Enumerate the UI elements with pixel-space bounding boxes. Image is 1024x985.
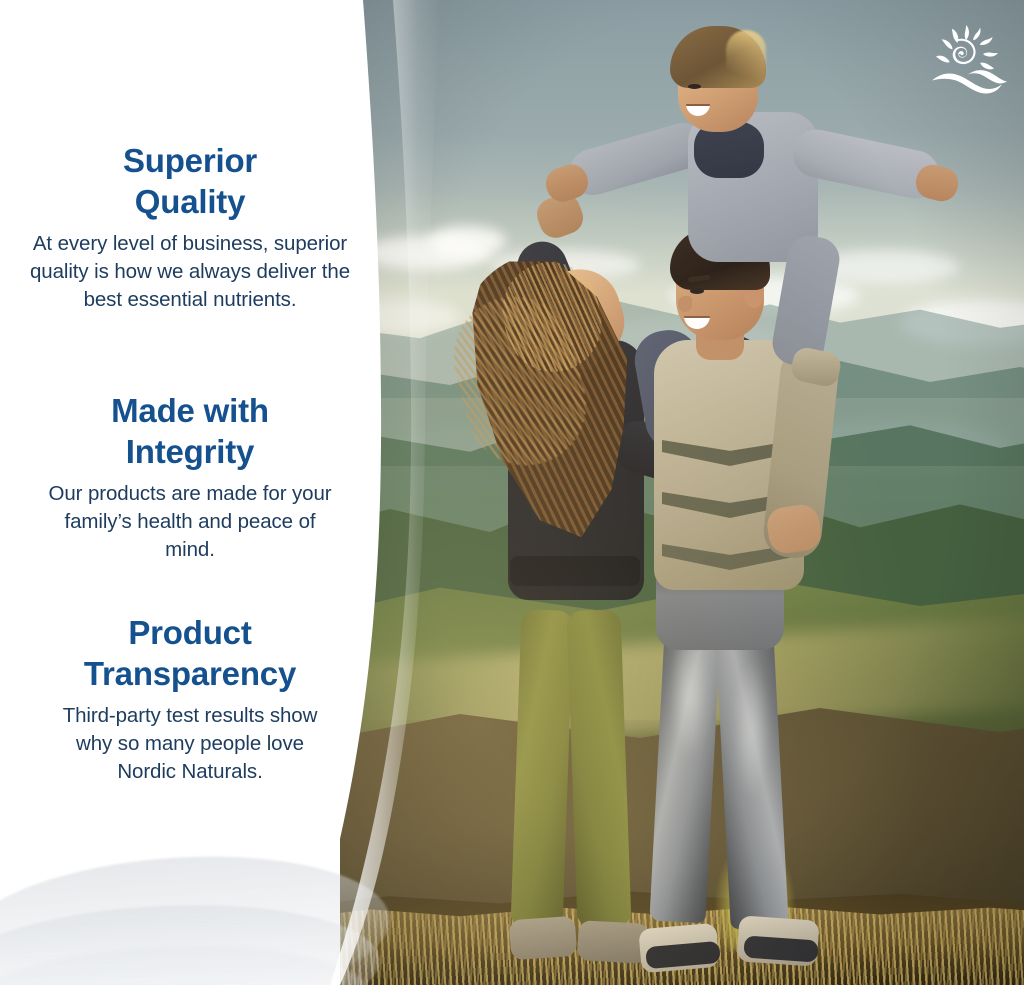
heading-line-1: Superior xyxy=(123,142,257,179)
heading-line-2: Integrity xyxy=(126,433,254,470)
block-body: At every level of business, superior qua… xyxy=(30,230,350,314)
heading-line-1: Product xyxy=(128,614,251,651)
value-block-made-with-integrity: Made with Integrity Our products are mad… xyxy=(20,390,360,564)
value-propositions: Superior Quality At every level of busin… xyxy=(0,0,408,985)
sun-waves-logo-icon xyxy=(932,25,1007,93)
block-body: Our products are made for your family’s … xyxy=(40,480,340,564)
block-body: Third-party test results show why so man… xyxy=(55,702,325,786)
nordic-naturals-logo xyxy=(928,22,1008,94)
heading-line-2: Transparency xyxy=(84,655,296,692)
block-heading: Superior Quality xyxy=(20,140,360,222)
heading-line-2: Quality xyxy=(135,183,245,220)
block-heading: Made with Integrity xyxy=(20,390,360,472)
value-block-superior-quality: Superior Quality At every level of busin… xyxy=(20,140,360,314)
vignette-overlay xyxy=(340,0,1024,985)
brand-graphic: Superior Quality At every level of busin… xyxy=(0,0,1024,985)
block-heading: Product Transparency xyxy=(20,612,360,694)
heading-line-1: Made with xyxy=(111,392,269,429)
family-photo xyxy=(340,0,1024,985)
value-block-product-transparency: Product Transparency Third-party test re… xyxy=(20,612,360,786)
